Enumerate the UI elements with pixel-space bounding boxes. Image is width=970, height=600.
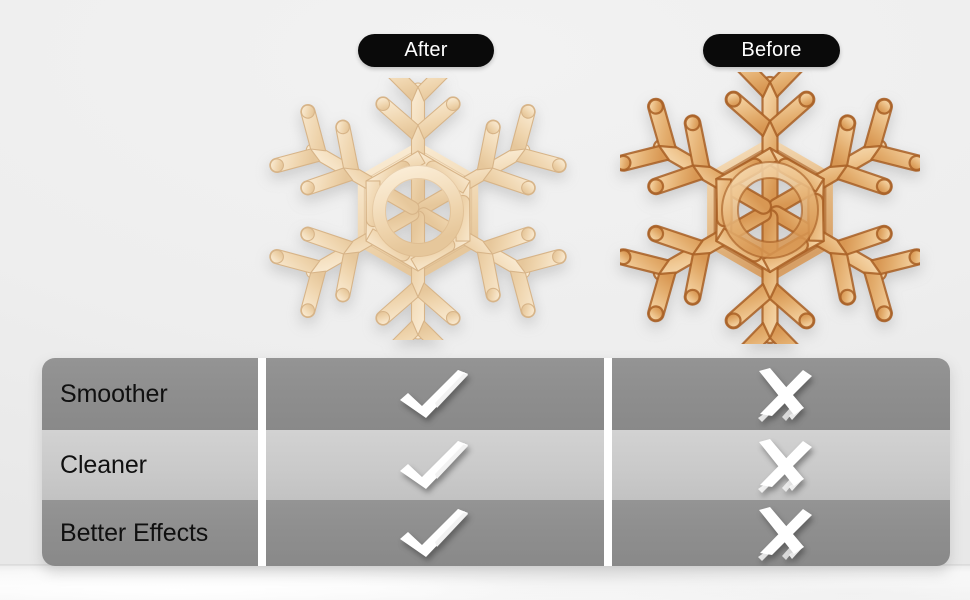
column-divider (604, 430, 612, 500)
comparison-infographic: After Before (0, 0, 970, 600)
badge-before: Before (703, 34, 840, 67)
badge-after-label: After (404, 39, 447, 62)
cross-mark-icon (746, 435, 816, 495)
column-divider (604, 358, 612, 430)
row-label: Better Effects (60, 519, 208, 548)
cell-after (266, 430, 604, 500)
row-label-cell: Smoother (42, 358, 258, 430)
check-mark-icon (392, 364, 478, 424)
cross-mark-icon (746, 364, 816, 424)
column-divider (258, 500, 266, 566)
column-divider (258, 430, 266, 500)
table-row: Better Effects (42, 500, 950, 566)
row-label: Cleaner (60, 451, 147, 480)
row-label: Smoother (60, 380, 168, 409)
cell-after (266, 500, 604, 566)
product-image-after (268, 78, 568, 340)
row-label-cell: Cleaner (42, 430, 258, 500)
cell-before (612, 358, 950, 430)
cross-mark-icon (746, 503, 816, 563)
check-mark-icon (392, 503, 478, 563)
comparison-table: Smoother (42, 358, 950, 566)
column-divider (258, 358, 266, 430)
cell-before (612, 430, 950, 500)
cell-before (612, 500, 950, 566)
cell-after (266, 358, 604, 430)
column-divider (604, 500, 612, 566)
table-row: Smoother (42, 358, 950, 430)
row-label-cell: Better Effects (42, 500, 258, 566)
badge-after: After (358, 34, 494, 67)
badge-before-label: Before (741, 39, 801, 62)
check-mark-icon (392, 435, 478, 495)
product-image-before (620, 72, 920, 344)
table-row: Cleaner (42, 430, 950, 500)
background-surface (0, 566, 970, 600)
